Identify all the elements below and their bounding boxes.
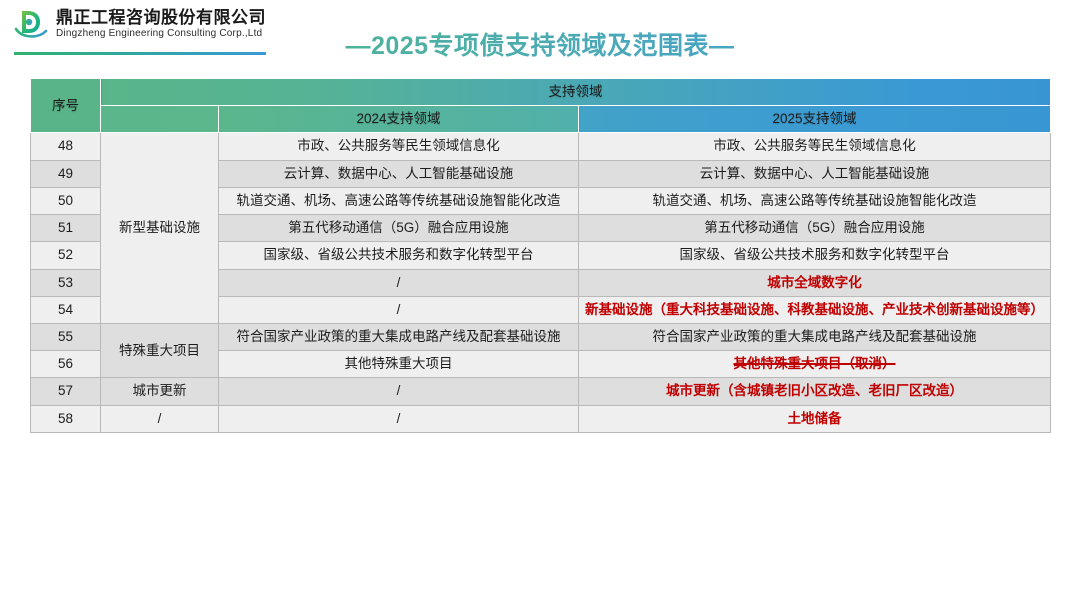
cell-2025-highlight-text: 城市更新（含城镇老旧小区改造、老旧厂区改造） xyxy=(666,383,963,398)
cell-2024-scope: / xyxy=(219,378,579,405)
page-title: —2025专项债支持领域及范围表— xyxy=(0,26,1080,62)
cell-seq: 50 xyxy=(31,187,101,214)
cell-2025-text: 云计算、数据中心、人工智能基础设施 xyxy=(700,166,930,181)
col-header-seq: 序号 xyxy=(31,79,101,133)
slide-page: 鼎正工程咨询股份有限公司 Dingzheng Engineering Consu… xyxy=(0,0,1080,607)
cell-seq: 53 xyxy=(31,269,101,296)
cell-2024-scope: 市政、公共服务等民生领域信息化 xyxy=(219,133,579,160)
cell-seq: 55 xyxy=(31,323,101,350)
cell-2024-scope: 第五代移动通信（5G）融合应用设施 xyxy=(219,215,579,242)
table-row: 55特殊重大项目符合国家产业政策的重大集成电路产线及配套基础设施符合国家产业政策… xyxy=(31,323,1051,350)
cell-seq: 51 xyxy=(31,215,101,242)
support-scope-table-wrap: 序号 支持领域 2024支持领域 2025支持领域 48新型基础设施市政、公共服… xyxy=(30,78,1050,433)
cell-2025-scope: 新基础设施（重大科技基础设施、科教基础设施、产业技术创新基础设施等） xyxy=(579,296,1051,323)
cell-2025-scope: 其他特殊重大项目（取消） xyxy=(579,351,1051,378)
cell-2024-scope: / xyxy=(219,405,579,432)
cell-2025-text: 符合国家产业政策的重大集成电路产线及配套基础设施 xyxy=(653,329,977,344)
col-header-2024: 2024支持领域 xyxy=(219,106,579,133)
cell-seq: 57 xyxy=(31,378,101,405)
table-row: 48新型基础设施市政、公共服务等民生领域信息化市政、公共服务等民生领域信息化 xyxy=(31,133,1051,160)
cell-seq: 58 xyxy=(31,405,101,432)
cell-seq: 56 xyxy=(31,351,101,378)
col-header-category-blank xyxy=(101,106,219,133)
cell-seq: 52 xyxy=(31,242,101,269)
cell-2025-scope: 云计算、数据中心、人工智能基础设施 xyxy=(579,160,1051,187)
table-row: 58//土地储备 xyxy=(31,405,1051,432)
cell-2025-scope: 城市全域数字化 xyxy=(579,269,1051,296)
cell-2025-text: 市政、公共服务等民生领域信息化 xyxy=(713,138,916,153)
cell-2025-highlight-text: 土地储备 xyxy=(788,411,842,426)
table-head-row-1: 序号 支持领域 xyxy=(31,79,1051,106)
cell-2025-scope: 城市更新（含城镇老旧小区改造、老旧厂区改造） xyxy=(579,378,1051,405)
cell-category: 城市更新 xyxy=(101,378,219,405)
cell-2024-scope: 云计算、数据中心、人工智能基础设施 xyxy=(219,160,579,187)
cell-2025-highlight-text: 新基础设施（重大科技基础设施、科教基础设施、产业技术创新基础设施等） xyxy=(585,302,1044,317)
col-header-2025: 2025支持领域 xyxy=(579,106,1051,133)
col-header-group-support-area: 支持领域 xyxy=(101,79,1051,106)
cell-2025-highlight-text: 城市全域数字化 xyxy=(767,275,862,290)
cell-2024-scope: 其他特殊重大项目 xyxy=(219,351,579,378)
cell-2025-text: 国家级、省级公共技术服务和数字化转型平台 xyxy=(680,247,950,262)
cell-seq: 49 xyxy=(31,160,101,187)
support-scope-table: 序号 支持领域 2024支持领域 2025支持领域 48新型基础设施市政、公共服… xyxy=(30,78,1051,433)
cell-2024-scope: / xyxy=(219,296,579,323)
table-head-row-2: 2024支持领域 2025支持领域 xyxy=(31,106,1051,133)
cell-2024-scope: 国家级、省级公共技术服务和数字化转型平台 xyxy=(219,242,579,269)
cell-2025-scope: 土地储备 xyxy=(579,405,1051,432)
cell-2025-scope: 符合国家产业政策的重大集成电路产线及配套基础设施 xyxy=(579,323,1051,350)
cell-2025-scope: 轨道交通、机场、高速公路等传统基础设施智能化改造 xyxy=(579,187,1051,214)
cell-seq: 54 xyxy=(31,296,101,323)
company-name-cn: 鼎正工程咨询股份有限公司 xyxy=(56,9,266,27)
table-row: 57城市更新/城市更新（含城镇老旧小区改造、老旧厂区改造） xyxy=(31,378,1051,405)
cell-2024-scope: / xyxy=(219,269,579,296)
cell-2025-highlight-text: 其他特殊重大项目（取消） xyxy=(734,356,896,371)
cell-2025-text: 第五代移动通信（5G）融合应用设施 xyxy=(704,220,925,235)
top-header-bar: 鼎正工程咨询股份有限公司 Dingzheng Engineering Consu… xyxy=(0,0,1080,62)
cell-2025-scope: 第五代移动通信（5G）融合应用设施 xyxy=(579,215,1051,242)
cell-seq: 48 xyxy=(31,133,101,160)
cell-2024-scope: 轨道交通、机场、高速公路等传统基础设施智能化改造 xyxy=(219,187,579,214)
cell-2024-scope: 符合国家产业政策的重大集成电路产线及配套基础设施 xyxy=(219,323,579,350)
cell-2025-scope: 市政、公共服务等民生领域信息化 xyxy=(579,133,1051,160)
cell-category: 新型基础设施 xyxy=(101,133,219,324)
cell-category: 特殊重大项目 xyxy=(101,323,219,377)
cell-2025-scope: 国家级、省级公共技术服务和数字化转型平台 xyxy=(579,242,1051,269)
table-head: 序号 支持领域 2024支持领域 2025支持领域 xyxy=(31,79,1051,133)
table-body: 48新型基础设施市政、公共服务等民生领域信息化市政、公共服务等民生领域信息化49… xyxy=(31,133,1051,432)
cell-category: / xyxy=(101,405,219,432)
cell-2025-text: 轨道交通、机场、高速公路等传统基础设施智能化改造 xyxy=(653,193,977,208)
